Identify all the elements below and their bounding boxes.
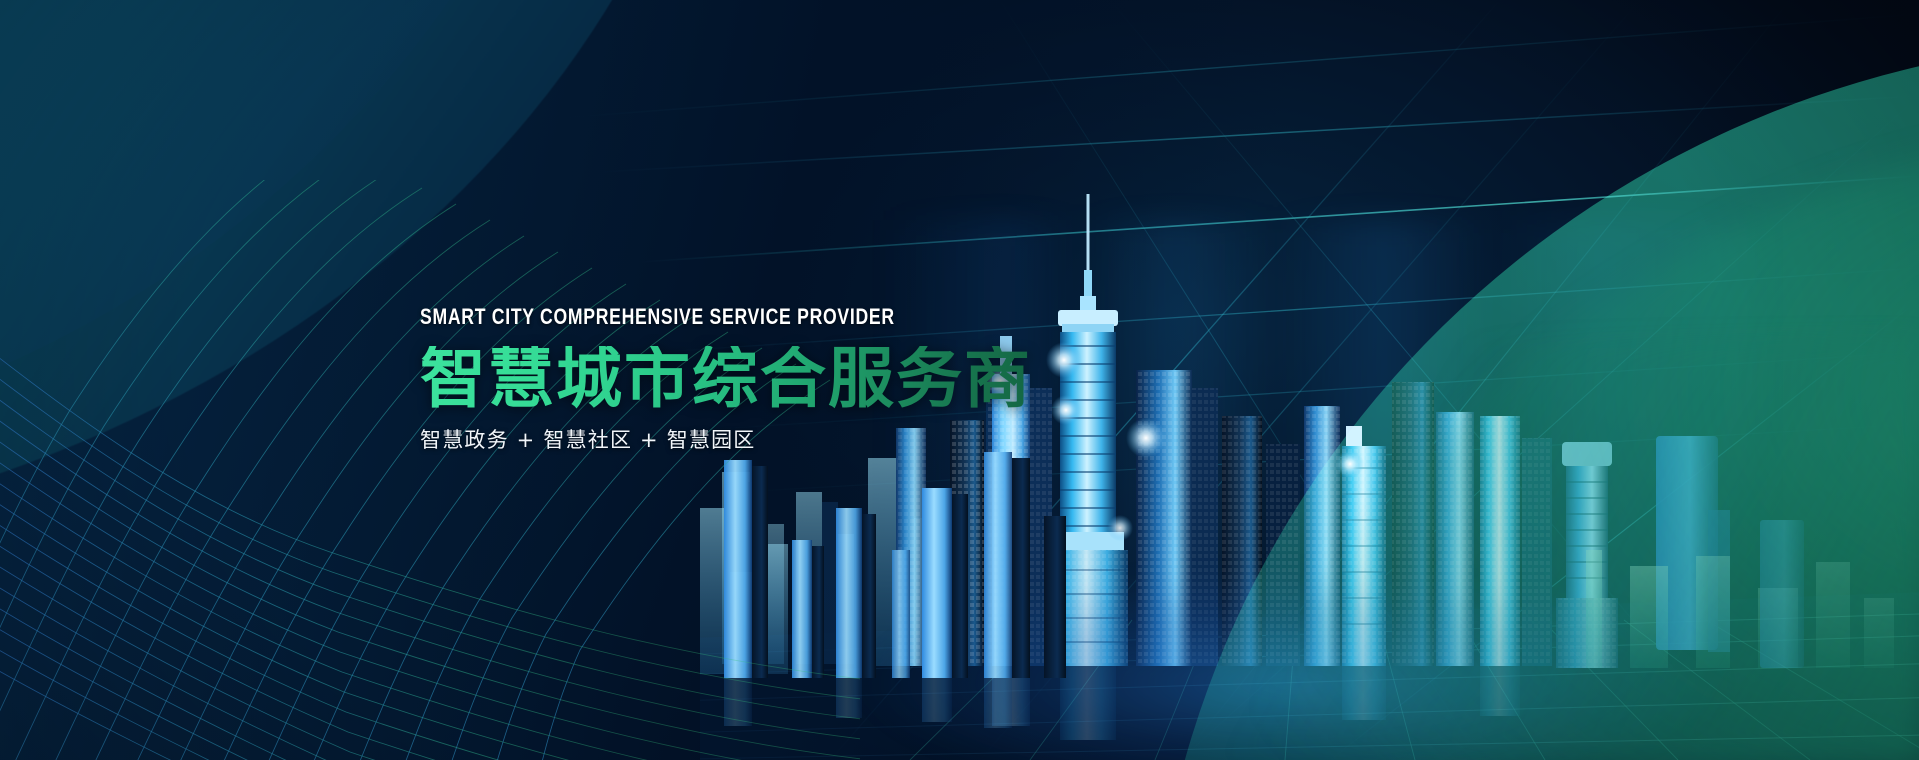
hero-tagline: 智慧政务 + 智慧社区 + 智慧园区 bbox=[420, 430, 1032, 451]
hero-text-block: SMART CITY COMPREHENSIVE SERVICE PROVIDE… bbox=[420, 306, 1032, 451]
hero-eyebrow: SMART CITY COMPREHENSIVE SERVICE PROVIDE… bbox=[420, 306, 910, 328]
bottom-right-green-haze bbox=[1159, 340, 1919, 760]
left-wireframe-mesh bbox=[0, 180, 860, 760]
hero-banner: SMART CITY COMPREHENSIVE SERVICE PROVIDE… bbox=[0, 0, 1919, 760]
page-title: 智慧城市综合服务商 bbox=[420, 346, 1032, 412]
